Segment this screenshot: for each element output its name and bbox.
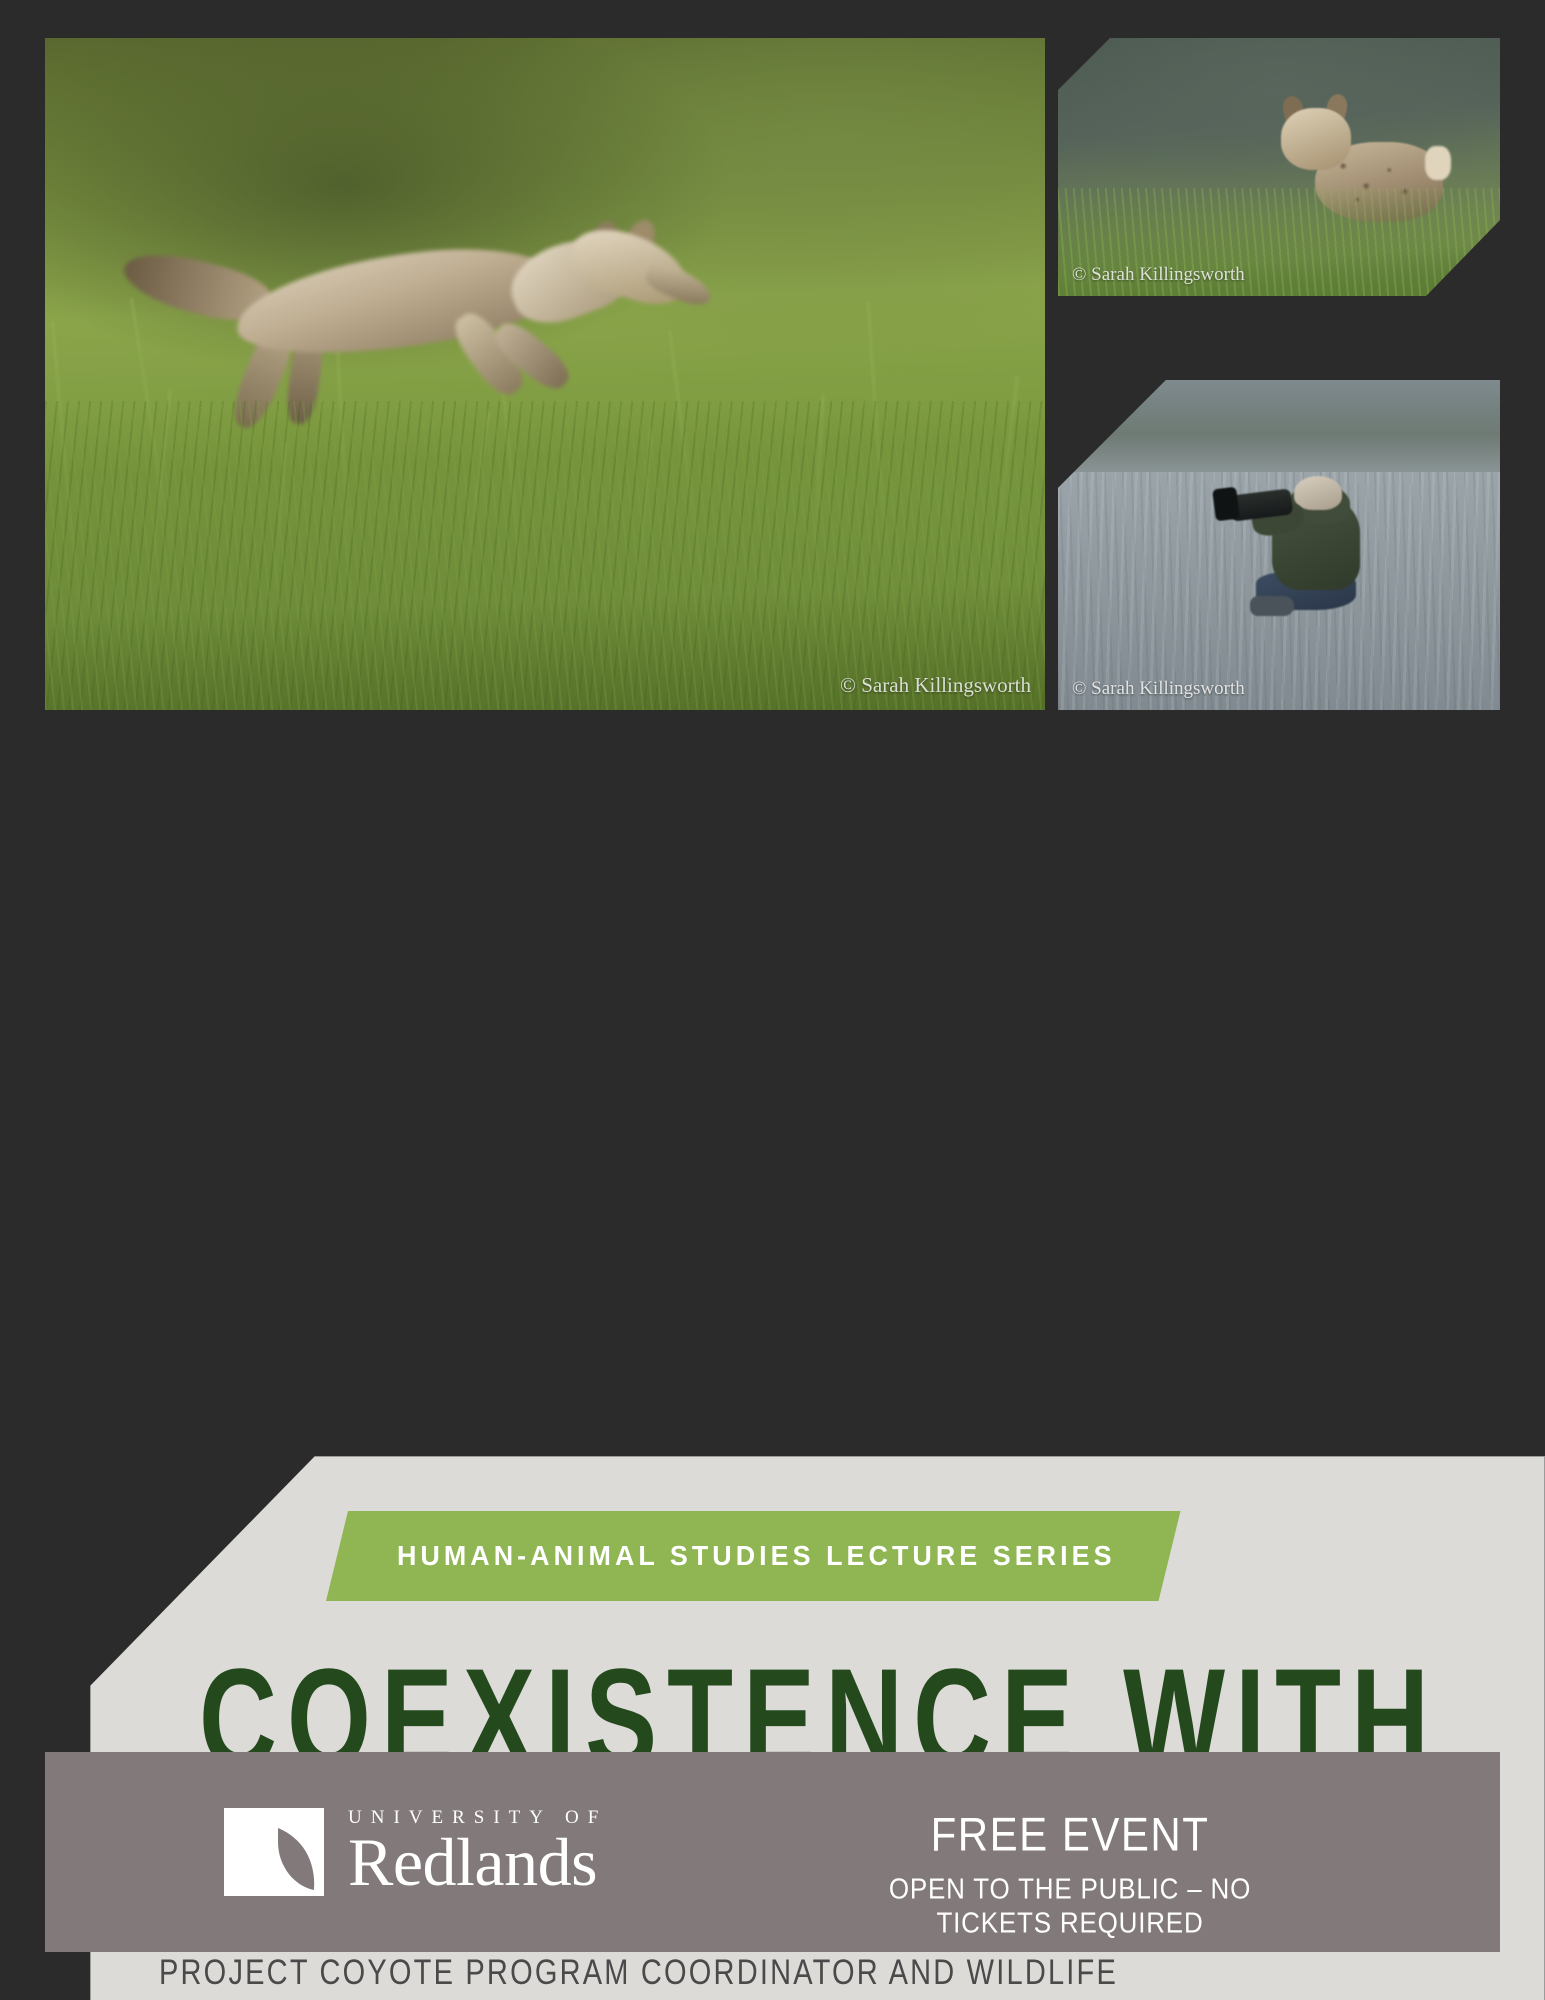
logo-wordmark: UNIVERSITY OF Redlands	[348, 1804, 607, 1896]
lecture-series-label: HUMAN-ANIMAL STUDIES LECTURE SERIES	[397, 1540, 1116, 1572]
free-event-block: FREE EVENT OPEN TO THE PUBLIC – NO TICKE…	[830, 1808, 1310, 1934]
university-logo: UNIVERSITY OF Redlands	[220, 1804, 607, 1900]
logo-redlands: Redlands	[348, 1829, 607, 1896]
redlands-r-mark-icon	[220, 1804, 336, 1900]
photographer-figure	[1236, 460, 1386, 625]
free-event-subtitle: OPEN TO THE PUBLIC – NO TICKETS REQUIRED	[830, 1872, 1310, 1940]
coyote-leaping-photo: © Sarah Killingsworth	[45, 38, 1045, 710]
free-event-title: FREE EVENT	[830, 1808, 1310, 1862]
foreground-grass	[45, 401, 1045, 710]
event-poster: © Sarah Killingsworth © Sarah Killingswo…	[0, 0, 1545, 2000]
speaker-role-line-1: PROJECT COYOTE PROGRAM COORDINATOR AND W…	[159, 1954, 1118, 2000]
photographer-photo: © Sarah Killingsworth	[1058, 380, 1500, 710]
photo-credit: © Sarah Killingsworth	[1072, 264, 1245, 286]
lecture-series-banner: HUMAN-ANIMAL STUDIES LECTURE SERIES	[326, 1511, 1181, 1601]
footer-bar: UNIVERSITY OF Redlands FREE EVENT OPEN T…	[45, 1752, 1500, 1952]
photo-strip: © Sarah Killingsworth © Sarah Killingswo…	[0, 0, 1545, 718]
bobcat-photo: © Sarah Killingsworth	[1058, 38, 1500, 296]
photo-credit: © Sarah Killingsworth	[840, 673, 1031, 698]
speaker-role: PROJECT COYOTE PROGRAM COORDINATOR AND W…	[159, 1949, 1289, 2000]
content-card: HUMAN-ANIMAL STUDIES LECTURE SERIES COEX…	[45, 728, 1500, 1716]
photo-credit: © Sarah Killingsworth	[1072, 678, 1245, 700]
